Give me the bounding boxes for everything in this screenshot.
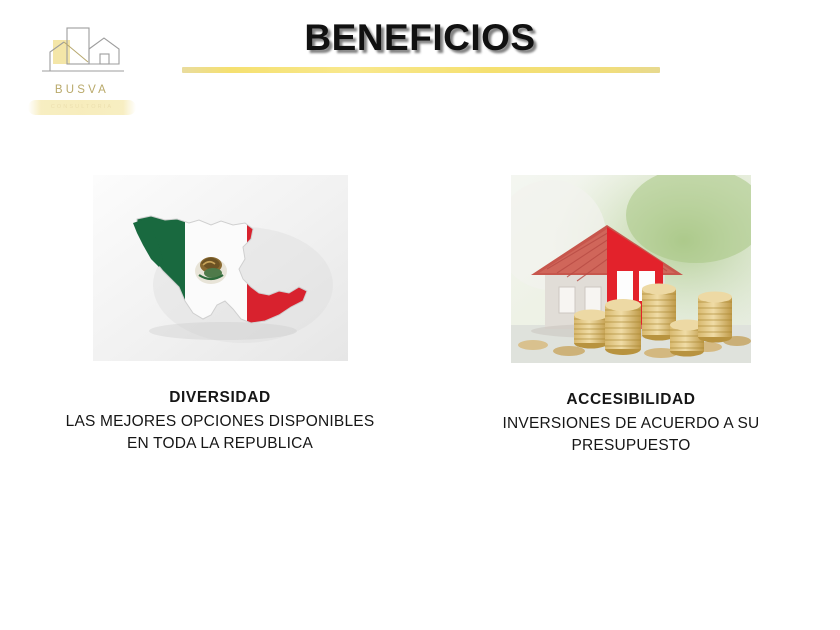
benefit-description-line: LAS MEJORES OPCIONES DISPONIBLES bbox=[14, 411, 426, 433]
benefit-description: LAS MEJORES OPCIONES DISPONIBLES EN TODA… bbox=[14, 411, 426, 455]
logo-wordmark: BUSVA bbox=[28, 84, 136, 96]
slide-beneficios: BUSVA CONSULTORIA BENEFICIOS bbox=[0, 0, 840, 630]
benefit-heading: ACCESIBILIDAD bbox=[436, 389, 826, 411]
benefit-description: INVERSIONES DE ACUERDO A SU PRESUPUESTO bbox=[436, 413, 826, 457]
benefit-caption-diversidad: DIVERSIDAD LAS MEJORES OPCIONES DISPONIB… bbox=[14, 387, 426, 455]
benefit-description-line: EN TODA LA REPUBLICA bbox=[14, 433, 426, 455]
benefit-caption-accesibilidad: ACCESIBILIDAD INVERSIONES DE ACUERDO A S… bbox=[436, 389, 826, 457]
busva-building-logomark bbox=[36, 24, 128, 86]
benefit-column-accesibilidad: ACCESIBILIDAD INVERSIONES DE ACUERDO A S… bbox=[436, 175, 826, 457]
busva-logo: BUSVA CONSULTORIA bbox=[28, 22, 136, 127]
benefit-description-line: INVERSIONES DE ACUERDO A SU bbox=[436, 413, 826, 435]
page-title: BENEFICIOS bbox=[170, 17, 670, 59]
mexico-map-flag-photo bbox=[93, 175, 348, 361]
title-underline-rule bbox=[182, 67, 660, 73]
benefit-heading: DIVERSIDAD bbox=[14, 387, 426, 409]
benefit-description-line: PRESUPUESTO bbox=[436, 435, 826, 457]
benefit-column-diversidad: DIVERSIDAD LAS MEJORES OPCIONES DISPONIB… bbox=[14, 175, 426, 455]
logo-tagline: CONSULTORIA bbox=[28, 100, 136, 115]
house-coins-photo bbox=[511, 175, 751, 363]
